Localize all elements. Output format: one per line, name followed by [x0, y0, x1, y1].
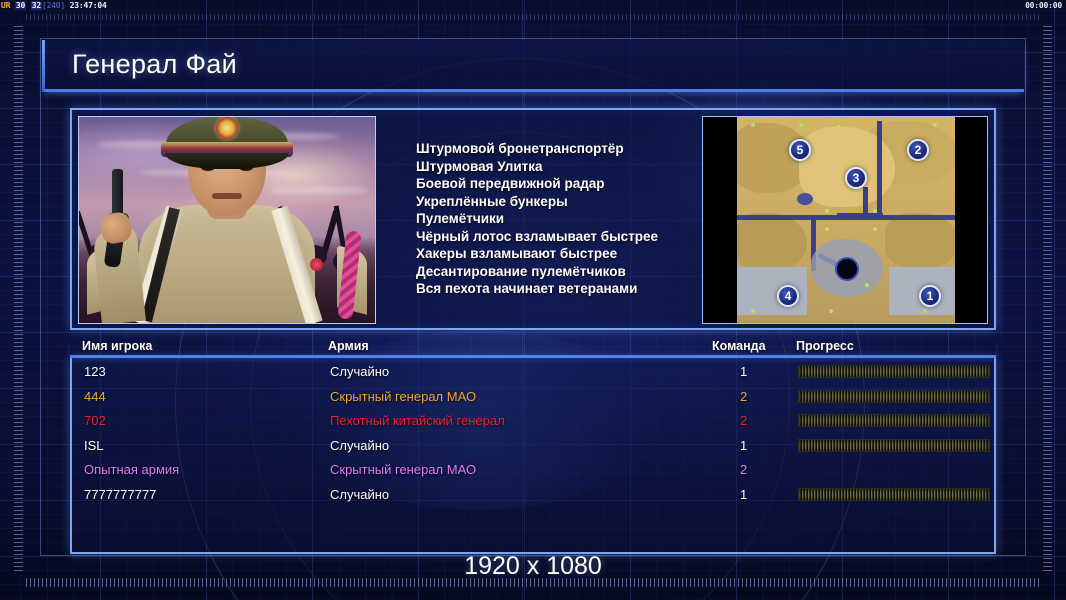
player-team: 1 — [740, 364, 747, 379]
resolution-label: 1920 x 1080 — [0, 552, 1066, 581]
portrait-cloud — [269, 187, 369, 194]
minimap-resource-dot — [829, 149, 833, 153]
minimap-resource-dot — [933, 123, 937, 127]
status-tag: UR — [1, 1, 10, 10]
minimap-spawn-marker[interactable]: 1 — [919, 285, 941, 307]
status-clock: 23:47:04 — [70, 1, 107, 10]
status-bracket: [240] — [42, 1, 65, 10]
status-right-clock: 00:00:00 — [1025, 0, 1062, 12]
minimap-terrain-patch — [885, 213, 955, 269]
ability-item: Вся пехота начинает ветеранами — [416, 280, 706, 298]
minimap-water — [797, 193, 813, 205]
portrait-medal — [310, 258, 323, 271]
minimap-center-objective — [835, 257, 859, 281]
ability-item: Штурмовая Улитка — [416, 158, 706, 176]
minimap-road — [877, 121, 882, 217]
player-team: 2 — [740, 462, 747, 477]
minimap-resource-dot — [923, 309, 927, 313]
minimap-resource-dot — [825, 209, 829, 213]
table-row[interactable]: ISL Случайно 1 — [72, 436, 994, 461]
player-army: Скрытный генерал МАО — [330, 389, 476, 404]
ruler-right — [1043, 26, 1052, 574]
status-num2: 32 — [31, 1, 42, 10]
ability-item: Чёрный лотос взламывает быстрее — [416, 228, 706, 246]
minimap-resource-dot — [837, 125, 841, 129]
minimap-terrain: 5 2 3 4 1 — [737, 117, 955, 323]
minimap-resource-dot — [825, 227, 829, 231]
ability-item: Хакеры взламывают быстрее — [416, 245, 706, 263]
minimap-resource-dot — [873, 227, 877, 231]
minimap-spawn-marker[interactable]: 5 — [789, 139, 811, 161]
ability-item: Пулемётчики — [416, 210, 706, 228]
status-num1: 30 — [15, 1, 26, 10]
column-header-team: Команда — [712, 339, 766, 353]
player-team: 1 — [740, 487, 747, 502]
player-name: 444 — [84, 389, 106, 404]
players-table: 123 Случайно 1 444 Скрытный генерал МАО … — [70, 358, 996, 554]
game-lobby-screen: UR 30 32[240] 23:47:04 00:00:00 Генерал … — [0, 0, 1066, 600]
minimap[interactable]: 5 2 3 4 1 — [702, 116, 988, 324]
player-army: Случайно — [330, 487, 389, 502]
table-row[interactable]: 702 Пехотный китайский генерал 2 — [72, 411, 994, 436]
player-progress-bar — [798, 414, 990, 427]
players-table-header: Имя игрока Армия Команда Прогресс — [70, 338, 996, 358]
player-army: Пехотный китайский генерал — [330, 413, 505, 428]
minimap-resource-dot — [829, 309, 833, 313]
column-header-name: Имя игрока — [82, 339, 152, 353]
portrait-cap-badge-icon — [216, 117, 238, 139]
player-name: 702 — [84, 413, 106, 428]
player-progress-bar — [798, 365, 990, 378]
general-portrait — [78, 116, 376, 324]
player-name: Опытная армия — [84, 462, 179, 477]
general-info-panel: Штурмовой бронетранспортёр Штурмовая Ули… — [70, 108, 996, 330]
ability-item: Штурмовой бронетранспортёр — [416, 140, 706, 158]
status-bar-left: UR 30 32[240] 23:47:04 — [1, 0, 107, 12]
minimap-road — [863, 187, 868, 219]
status-bar: UR 30 32[240] 23:47:04 00:00:00 — [0, 0, 1066, 12]
minimap-road — [837, 213, 883, 218]
minimap-resource-dot — [865, 283, 869, 287]
minimap-spawn-marker[interactable]: 4 — [777, 285, 799, 307]
minimap-spawn-marker[interactable]: 2 — [907, 139, 929, 161]
player-name: ISL — [84, 438, 104, 453]
player-team: 2 — [740, 389, 747, 404]
player-progress-bar — [798, 390, 990, 403]
player-team: 1 — [740, 438, 747, 453]
column-header-progress: Прогресс — [796, 339, 854, 353]
title-panel: Генерал Фай — [42, 40, 1024, 92]
minimap-resource-dot — [799, 123, 803, 127]
ruler-left — [14, 26, 23, 574]
player-progress-bar — [798, 439, 990, 452]
ruler-top — [26, 14, 1040, 20]
player-army: Случайно — [330, 438, 389, 453]
ability-item: Укреплённые бункеры — [416, 193, 706, 211]
table-row[interactable]: 7777777777 Случайно 1 — [72, 485, 994, 510]
ability-list: Штурмовой бронетранспортёр Штурмовая Ули… — [416, 140, 706, 298]
minimap-resource-dot — [751, 123, 755, 127]
minimap-terrain-patch — [737, 213, 807, 271]
minimap-spawn-marker[interactable]: 3 — [845, 167, 867, 189]
player-progress-bar — [798, 488, 990, 501]
table-row[interactable]: 123 Случайно 1 — [72, 362, 994, 387]
ability-item: Боевой передвижной радар — [416, 175, 706, 193]
column-header-army: Армия — [328, 339, 369, 353]
player-army: Случайно — [330, 364, 389, 379]
minimap-resource-dot — [751, 309, 755, 313]
player-name: 7777777777 — [84, 487, 156, 502]
table-row[interactable]: 444 Скрытный генерал МАО 2 — [72, 387, 994, 412]
player-army: Скрытный генерал МАО — [330, 462, 476, 477]
ability-item: Десантирование пулемётчиков — [416, 263, 706, 281]
portrait-mouth — [212, 193, 242, 199]
player-name: 123 — [84, 364, 106, 379]
table-row[interactable]: Опытная армия Скрытный генерал МАО 2 — [72, 460, 994, 485]
player-team: 2 — [740, 413, 747, 428]
minimap-resource-dot — [873, 209, 877, 213]
page-title: Генерал Фай — [72, 49, 237, 80]
